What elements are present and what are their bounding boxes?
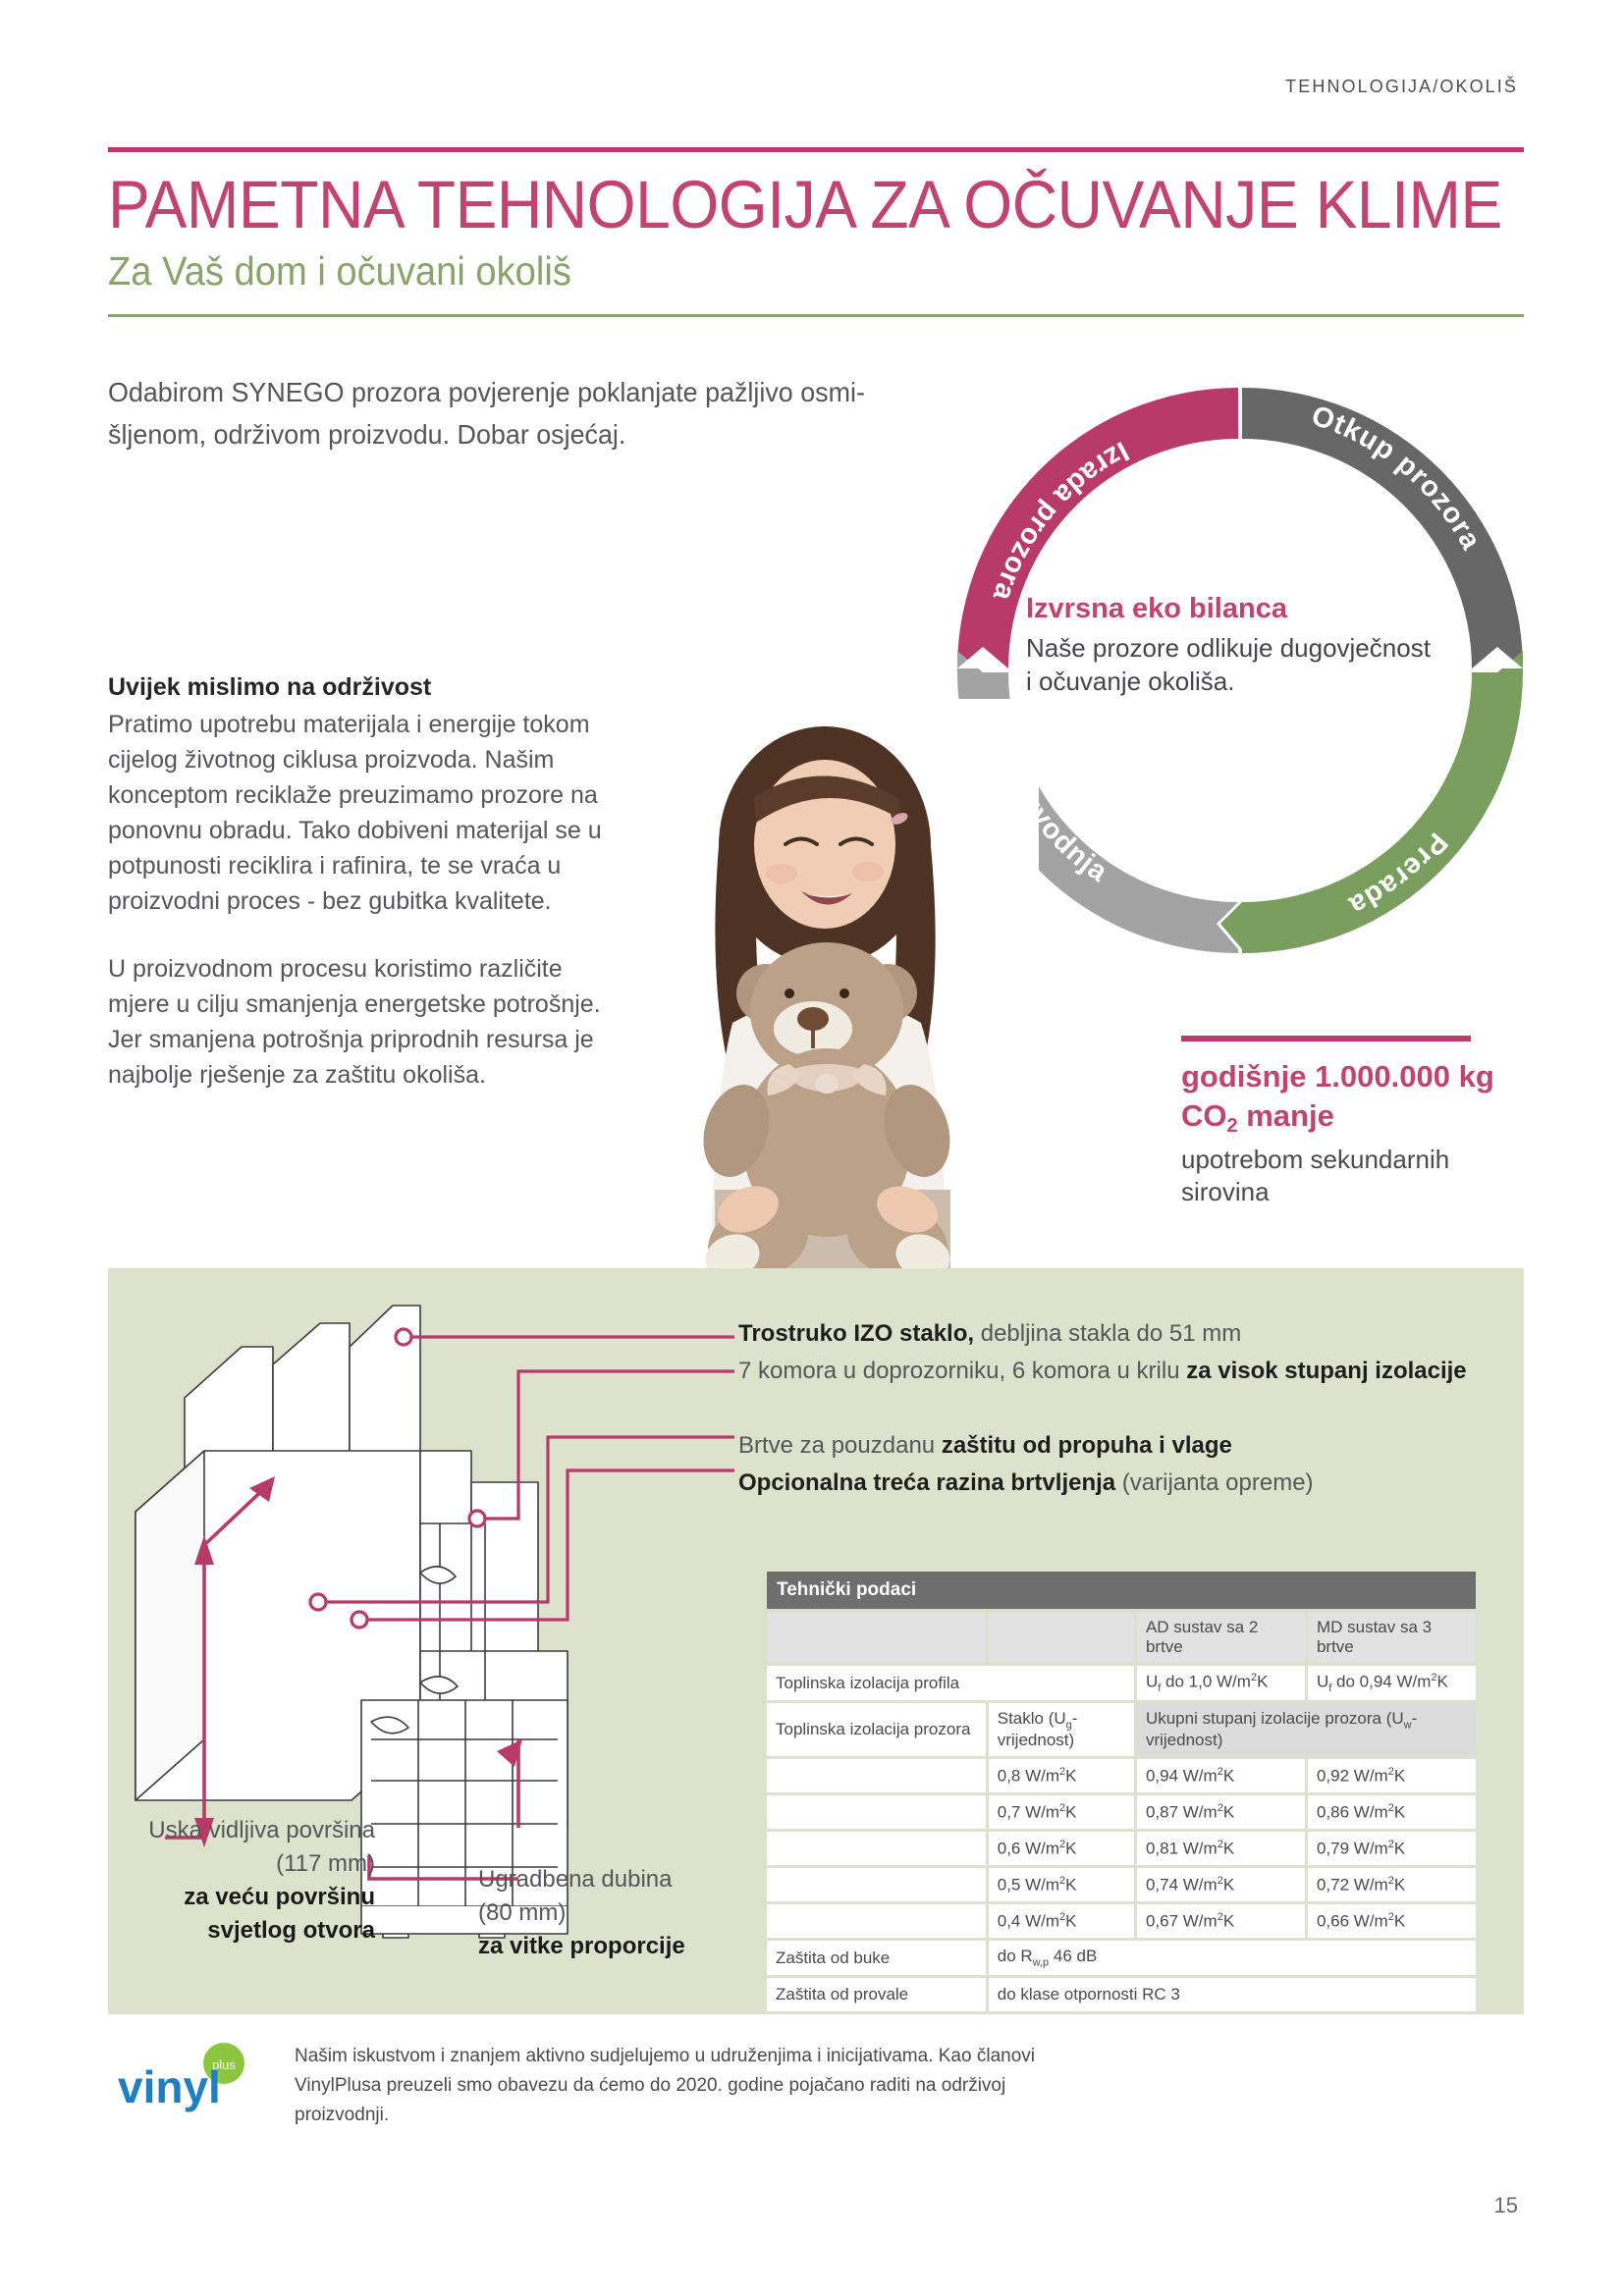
co2-manje: manje (1238, 1098, 1334, 1133)
cell-ad-074: 0,74 W/m2K (1137, 1868, 1305, 1901)
co2-rule (1181, 1036, 1471, 1041)
callout-1-bold: Trostruko IZO staklo, (738, 1320, 974, 1347)
cell-ad-067: 0,67 W/m2K (1137, 1904, 1305, 1938)
table-title-row: Tehnički podaci (767, 1572, 1476, 1609)
table-header-row: AD sustav sa 2 brtve MD sustav sa 3 brtv… (767, 1612, 1476, 1663)
cell-ad-087: 0,87 W/m2K (1137, 1795, 1305, 1829)
cell-blank (767, 1832, 986, 1865)
callout-line-3: Brtve za pouzdanu zaštitu od propuha i v… (738, 1427, 1485, 1465)
co2-subscript: 2 (1227, 1115, 1238, 1137)
cell-md-092: 0,92 W/m2K (1308, 1759, 1476, 1792)
row-label-burglary: Zaštita od provale (767, 1978, 986, 2011)
table-row: 0,6 W/m2K 0,81 W/m2K 0,79 W/m2K (767, 1832, 1476, 1865)
title-rule-bottom (108, 314, 1524, 317)
cell-noise-value: do Rw,p 46 dB (989, 1941, 1476, 1974)
callout-4-rest: (varijanta opreme) (1115, 1469, 1313, 1496)
dim-left-l1: Uska vidljiva površina (130, 1814, 375, 1847)
page-number: 15 (1494, 2193, 1518, 2218)
th-md-system: MD sustav sa 3 brtve (1308, 1612, 1476, 1663)
cell-blank (767, 1759, 986, 1792)
photo-girl-with-teddy-bear (617, 699, 1039, 1278)
cell-overall-uw: Ukupni stupanj izolacije prozora (Uw-vri… (1137, 1703, 1476, 1756)
body-paragraph-1: Pratimo upotrebu materijala i energije t… (108, 707, 628, 919)
cell-blank (767, 1795, 986, 1829)
th-blank-1 (767, 1612, 986, 1663)
cycle-center-title: Izvrsna eko bilanca (1026, 592, 1438, 625)
th-ad-system: AD sustav sa 2 brtve (1137, 1612, 1305, 1663)
callout-1-rest: debljina stakla do 51 mm (974, 1320, 1241, 1347)
page-root: TEHNOLOGIJA/OKOLIŠ PAMETNA TEHNOLOGIJA Z… (0, 0, 1624, 2296)
cell-ad-094: 0,94 W/m2K (1137, 1759, 1305, 1792)
vinylplus-logo: plus vinyl (116, 2042, 253, 2120)
cycle-center-text: Izvrsna eko bilanca Naše prozore odlikuj… (1026, 592, 1438, 698)
cell-glass-ug: Staklo (Ug-vrijednost) (989, 1703, 1134, 1756)
co2-formula: CO (1181, 1098, 1227, 1133)
cell-ug-08: 0,8 W/m2K (989, 1759, 1134, 1792)
vinylplus-logo-svg: plus vinyl (116, 2042, 253, 2120)
cell-blank (767, 1868, 986, 1901)
cell-md-086: 0,86 W/m2K (1308, 1795, 1476, 1829)
table-row: Zaštita od buke do Rw,p 46 dB (767, 1941, 1476, 1974)
running-head: TEHNOLOGIJA/OKOLIŠ (0, 77, 1518, 97)
cell-uf-md: Uf do 0,94 W/m2K (1308, 1666, 1476, 1700)
co2-headline-line2: CO2 manje (1181, 1098, 1515, 1138)
callout-2-bold: za visok stupanj izolacije (1186, 1358, 1466, 1384)
callout-3-rest: Brtve za pouzdanu (738, 1432, 942, 1459)
cycle-center-body: Naše prozore odlikuje dugovječnost i oču… (1026, 631, 1438, 698)
dim-left-l3: za veću površinu (184, 1884, 375, 1910)
row-label-noise: Zaštita od buke (767, 1941, 986, 1974)
cell-ug-05: 0,5 W/m2K (989, 1868, 1134, 1901)
dim-right-l1: Ugradbena dubina (478, 1863, 753, 1896)
callout-4-bold: Opcionalna treća razina brtvljenja (738, 1469, 1115, 1496)
feature-callouts: Trostruko IZO staklo, debljina stakla do… (738, 1315, 1485, 1502)
body-heading: Uvijek mislimo na održivost (108, 669, 628, 705)
table-row: 0,7 W/m2K 0,87 W/m2K 0,86 W/m2K (767, 1795, 1476, 1829)
table-row: Toplinska izolacija prozora Staklo (Ug-v… (767, 1703, 1476, 1756)
cell-ad-081: 0,81 W/m2K (1137, 1832, 1305, 1865)
row-label-window-insulation: Toplinska izolacija prozora (767, 1703, 986, 1756)
table-row: 0,5 W/m2K 0,74 W/m2K 0,72 W/m2K (767, 1868, 1476, 1901)
table-row: 0,8 W/m2K 0,94 W/m2K 0,92 W/m2K (767, 1759, 1476, 1792)
callout-line-2: 7 komora u doprozorniku, 6 komora u kril… (738, 1353, 1485, 1390)
dimension-caption-left: Uska vidljiva površina (117 mm) za veću … (130, 1814, 375, 1948)
body-paragraph-2: U proizvodnom procesu koristimo različit… (108, 951, 628, 1093)
cell-uf-ad: Uf do 1,0 W/m2K (1137, 1666, 1305, 1700)
technical-data-table: Tehnički podaci AD sustav sa 2 brtve MD … (764, 1569, 1479, 2014)
cell-blank (767, 1904, 986, 1938)
cell-ug-07: 0,7 W/m2K (989, 1795, 1134, 1829)
callout-line-4: Opcionalna treća razina brtvljenja (vari… (738, 1465, 1485, 1502)
intro-paragraph: Odabirom SYNEGO prozora povjerenje pokla… (108, 371, 947, 455)
body-column: Uvijek mislimo na održivost Pratimo upot… (108, 669, 628, 1125)
callout-2-rest: 7 komora u doprozorniku, 6 komora u kril… (738, 1358, 1186, 1384)
vinylplus-wordmark: vinyl (118, 2061, 221, 2112)
table-row: Zaštita od provale do klase otpornosti R… (767, 1978, 1476, 2011)
cell-md-072: 0,72 W/m2K (1308, 1868, 1476, 1901)
page-subtitle: Za Vaš dom i očuvani okoliš (108, 248, 571, 294)
callout-3-bold: zaštitu od propuha i vlage (942, 1432, 1232, 1459)
photo-illustration (617, 699, 1039, 1278)
title-rule-top (108, 147, 1524, 152)
cell-ug-04: 0,4 W/m2K (989, 1904, 1134, 1938)
footer-text: Našim iskustvom i znanjem aktivno sudjel… (295, 2042, 1041, 2130)
callout-spacer (738, 1390, 1485, 1427)
dim-right-l3: za vitke proporcije (478, 1933, 685, 1959)
callout-line-1: Trostruko IZO staklo, debljina stakla do… (738, 1315, 1485, 1353)
co2-headline-line1: godišnje 1.000.000 kg (1181, 1059, 1515, 1095)
dim-right-l2: (80 mm) (478, 1896, 753, 1930)
cell-burglary-value: do klase otpornosti RC 3 (989, 1978, 1476, 2011)
co2-callout: godišnje 1.000.000 kg CO2 manje upotrebo… (1181, 1036, 1515, 1208)
row-label-profile-insulation: Toplinska izolacija profila (767, 1666, 1134, 1700)
dim-left-l4: svjetlog otvora (207, 1917, 375, 1944)
table-row: 0,4 W/m2K 0,67 W/m2K 0,66 W/m2K (767, 1904, 1476, 1938)
cell-md-079: 0,79 W/m2K (1308, 1832, 1476, 1865)
co2-subtext: upotrebom sekundarnih sirovina (1181, 1144, 1515, 1208)
cell-md-066: 0,66 W/m2K (1308, 1904, 1476, 1938)
page-title: PAMETNA TEHNOLOGIJA ZA OČUVANJE KLIME (108, 169, 1502, 241)
dim-left-l2: (117 mm) (130, 1847, 375, 1881)
table-title: Tehnički podaci (767, 1572, 1476, 1609)
cell-ug-06: 0,6 W/m2K (989, 1832, 1134, 1865)
th-blank-2 (989, 1612, 1134, 1663)
table-row: Toplinska izolacija profila Uf do 1,0 W/… (767, 1666, 1476, 1700)
dimension-caption-right: Ugradbena dubina (80 mm) za vitke propor… (478, 1863, 753, 1963)
